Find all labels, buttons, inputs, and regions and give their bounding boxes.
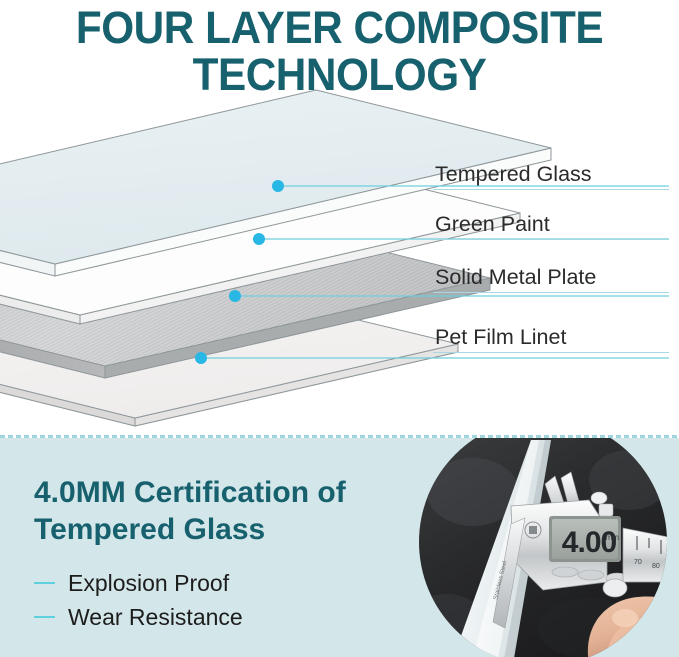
four-layer-composite-infographic: Tempered Glass Green Paint Solid Metal P… xyxy=(0,0,679,657)
callout-label-text: Solid Metal Plate xyxy=(433,264,669,290)
certification-heading-line-1: 4.0MM Certification of xyxy=(34,474,434,511)
feature-list: Explosion Proof Wear Resistance xyxy=(34,568,434,632)
certification-panel: Stainless Steel 4.00 mm xyxy=(0,438,679,657)
callout-underline xyxy=(433,239,669,240)
caliper-scale-tick-90: 90 xyxy=(670,566,678,573)
callout-dot-pet-film-linet xyxy=(195,352,207,364)
callout-label-text: Pet Film Linet xyxy=(433,324,669,350)
callout-label-pet-film-linet: Pet Film Linet xyxy=(433,324,669,353)
callout-dot-solid-metal-plate xyxy=(229,290,241,302)
callout-dot-green-paint xyxy=(253,233,265,245)
callout-label-solid-metal-plate: Solid Metal Plate xyxy=(433,264,669,293)
callout-label-text: Green Paint xyxy=(433,211,669,237)
callout-underline xyxy=(433,352,669,353)
certification-heading-line-2: Tempered Glass xyxy=(34,511,434,548)
feature-label: Explosion Proof xyxy=(68,568,229,598)
layer-diagram-panel: Tempered Glass Green Paint Solid Metal P… xyxy=(0,0,679,437)
caliper-photo: Stainless Steel 4.00 mm xyxy=(393,438,679,657)
list-item: Explosion Proof xyxy=(34,568,434,598)
caliper-reading: 4.00 xyxy=(562,526,617,559)
callout-dot-tempered-glass xyxy=(272,180,284,192)
caliper-scale-tick-70: 70 xyxy=(634,559,642,566)
caliper-scale-tick-80: 80 xyxy=(652,563,660,570)
callout-underline xyxy=(433,189,669,190)
callout-label-tempered-glass: Tempered Glass xyxy=(433,161,669,190)
caliper-photo-content: Stainless Steel 4.00 mm xyxy=(393,438,679,657)
callout-label-green-paint: Green Paint xyxy=(433,211,669,240)
feature-label: Wear Resistance xyxy=(68,602,243,632)
callout-underline xyxy=(433,292,669,293)
callout-label-text: Tempered Glass xyxy=(433,161,669,187)
certification-copy: 4.0MM Certification of Tempered Glass Ex… xyxy=(34,474,434,636)
dash-icon xyxy=(34,616,55,618)
caliper-unit: mm xyxy=(606,533,620,542)
dashed-divider xyxy=(0,435,679,438)
list-item: Wear Resistance xyxy=(34,602,434,632)
dash-icon xyxy=(34,582,55,584)
